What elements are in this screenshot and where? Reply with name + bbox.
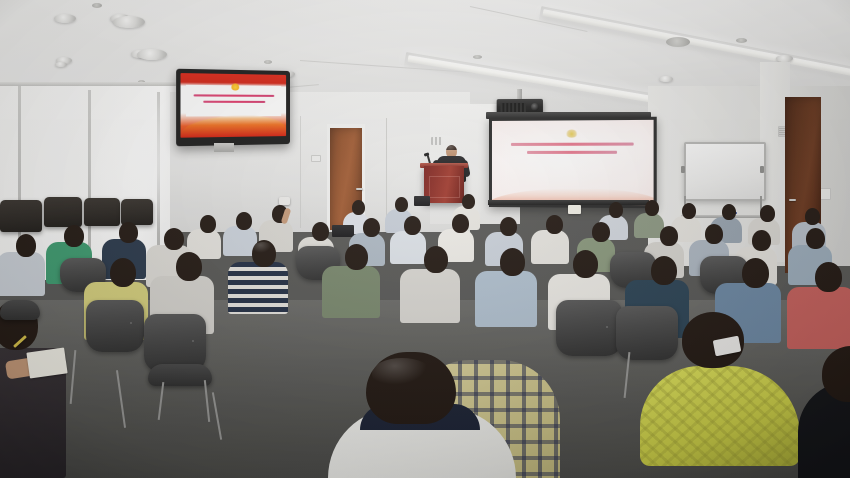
tv-wall-mount bbox=[214, 143, 234, 152]
person-head bbox=[752, 230, 771, 251]
person-head bbox=[660, 226, 678, 246]
conference-chair[interactable] bbox=[616, 306, 678, 360]
person-head bbox=[806, 228, 825, 249]
person-head bbox=[64, 225, 84, 247]
person-torso bbox=[228, 262, 288, 314]
notepad[interactable] bbox=[26, 347, 67, 378]
person-torso bbox=[390, 231, 426, 264]
podium-front-panel bbox=[429, 176, 460, 198]
person-torso bbox=[0, 252, 45, 296]
person-head bbox=[236, 212, 252, 230]
ceiling-downlight bbox=[659, 76, 673, 82]
hair-highlight bbox=[253, 242, 273, 254]
ceiling-downlight bbox=[776, 55, 793, 62]
projected-title-line-2 bbox=[527, 151, 617, 154]
hair-highlight bbox=[372, 358, 432, 388]
person-head bbox=[705, 224, 723, 244]
document-sheet bbox=[568, 205, 581, 214]
person-head bbox=[500, 217, 517, 236]
person-head bbox=[200, 215, 216, 233]
projector-lens-icon bbox=[531, 103, 539, 111]
right-door-handle[interactable] bbox=[789, 199, 796, 201]
whiteboard-pivot-clip bbox=[681, 166, 685, 173]
ceiling-downlight bbox=[55, 62, 67, 67]
leather-chair[interactable] bbox=[44, 197, 82, 227]
person-head bbox=[352, 200, 365, 215]
projection-screen[interactable] bbox=[489, 117, 657, 209]
wall-control-panel bbox=[311, 155, 321, 162]
ceiling-downlight bbox=[137, 49, 167, 60]
ceiling-sprinkler bbox=[92, 3, 102, 8]
laptop[interactable] bbox=[332, 225, 354, 237]
conference-room-photo bbox=[0, 0, 850, 478]
person-head bbox=[119, 222, 138, 243]
ceiling-sprinkler bbox=[736, 38, 747, 43]
chair-rivet bbox=[130, 322, 132, 324]
laptop[interactable] bbox=[414, 196, 430, 206]
speaker-hair-highlight bbox=[446, 145, 457, 152]
tv-screen bbox=[181, 73, 287, 138]
ceiling-sprinkler bbox=[264, 60, 272, 64]
person-head bbox=[462, 194, 475, 209]
ceiling-sprinkler bbox=[666, 37, 690, 47]
glass-mullion bbox=[157, 92, 160, 252]
conference-chair[interactable] bbox=[86, 300, 144, 352]
person-head bbox=[345, 244, 368, 270]
ceiling-downlight bbox=[113, 16, 145, 28]
sunburst-emblem-icon bbox=[230, 83, 239, 90]
person-head bbox=[805, 208, 820, 225]
person-torso bbox=[531, 230, 569, 264]
person-head bbox=[312, 222, 329, 241]
front-door-handle[interactable] bbox=[356, 188, 363, 190]
person-head bbox=[645, 200, 659, 216]
leather-chair[interactable] bbox=[121, 199, 153, 225]
person-head bbox=[176, 252, 202, 281]
chair-rivet bbox=[192, 340, 194, 342]
person-head bbox=[452, 214, 469, 233]
person-head bbox=[164, 228, 184, 250]
person-head bbox=[404, 216, 421, 235]
person-head bbox=[546, 215, 563, 234]
smartphone[interactable] bbox=[279, 197, 290, 205]
person-head bbox=[592, 222, 610, 242]
ceiling-downlight bbox=[54, 14, 76, 23]
tv-slide-title-line-2 bbox=[204, 100, 265, 102]
chair-seat[interactable] bbox=[0, 300, 40, 320]
whiteboard[interactable] bbox=[684, 142, 766, 201]
person-head bbox=[609, 202, 623, 218]
wall-mounted-tv[interactable] bbox=[176, 69, 290, 147]
person-head bbox=[760, 205, 775, 222]
person-head bbox=[815, 262, 842, 292]
ceiling-sprinkler bbox=[473, 55, 482, 59]
person-head bbox=[363, 218, 380, 237]
person-head bbox=[651, 256, 677, 285]
wall-emblem-icon bbox=[431, 137, 443, 145]
tv-slide-wave-graphic bbox=[181, 115, 287, 137]
person-head bbox=[722, 204, 736, 220]
chair-rivet bbox=[606, 326, 608, 328]
projector-vent bbox=[501, 103, 526, 112]
person-torso bbox=[400, 269, 460, 323]
person-head bbox=[110, 258, 136, 287]
conference-chair[interactable] bbox=[556, 300, 622, 356]
person-torso bbox=[787, 287, 850, 349]
person-head bbox=[395, 197, 408, 212]
wall-panel-seam bbox=[300, 116, 301, 228]
leather-chair[interactable] bbox=[84, 198, 120, 226]
person-head bbox=[573, 250, 598, 278]
person-torso bbox=[322, 266, 380, 318]
chair-seat[interactable] bbox=[148, 364, 212, 386]
person-head bbox=[742, 258, 769, 288]
wall-panel-seam bbox=[386, 118, 387, 228]
glass-top-rail bbox=[0, 82, 176, 86]
person-torso bbox=[475, 271, 537, 327]
person-head bbox=[682, 203, 696, 219]
leather-chair[interactable] bbox=[0, 200, 42, 232]
person-head bbox=[424, 246, 448, 273]
person-head bbox=[16, 234, 36, 257]
whiteboard-pivot-clip bbox=[760, 166, 764, 173]
wall-control-panel bbox=[820, 188, 831, 200]
person-head bbox=[500, 248, 525, 276]
